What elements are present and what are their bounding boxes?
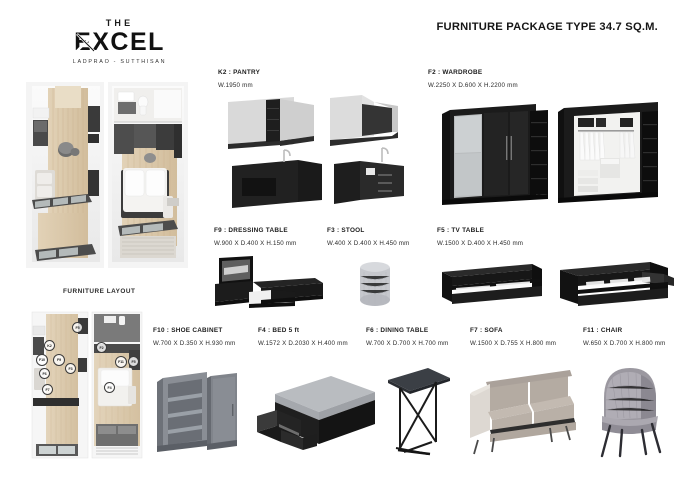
item-label-dressing-table: F9 : DRESSING TABLE W.900 X D.400 X H.15… — [214, 226, 297, 249]
item-code: F7 : SOFA — [470, 326, 556, 336]
item-label-dining-table: F6 : DINING TABLE W.700 X D.700 X H.700 … — [366, 326, 449, 349]
item-label-shoe-cabinet: F10 : SHOE CABINET W.700 X D.350 X H.930… — [153, 326, 236, 349]
plan-marker[interactable]: F2 — [96, 342, 107, 353]
product-image-stool — [352, 256, 398, 314]
product-image-dining-table — [384, 364, 454, 456]
item-code: F9 : DRESSING TABLE — [214, 226, 297, 236]
plan-marker[interactable]: F4 — [104, 382, 115, 393]
item-code: F6 : DINING TABLE — [366, 326, 449, 336]
furniture-layout-caption: FURNITURE LAYOUT — [63, 288, 135, 295]
item-label-stool: F3 : STOOL W.400 X D.400 X H.450 mm — [327, 226, 410, 249]
product-image-chair — [592, 364, 670, 460]
item-dimensions: W.700 X D.350 X H.930 mm — [153, 339, 236, 349]
product-image-bed — [253, 372, 381, 454]
item-dimensions: W.1500 X D.755 X H.800 mm — [470, 339, 556, 349]
plan-marker[interactable]: F9 — [53, 354, 65, 366]
product-image-pantry — [222, 92, 412, 210]
product-image-tv-table — [436, 252, 676, 314]
product-image-sofa — [462, 368, 590, 458]
isometric-floor-plan — [22, 78, 194, 274]
plan-marker[interactable]: F6 — [39, 368, 50, 379]
item-code: K2 : PANTRY — [218, 68, 260, 78]
product-image-shoe-cabinet — [155, 360, 245, 460]
item-dimensions: W.1500 X D.400 X H.450 mm — [437, 239, 523, 249]
item-dimensions: W.400 X D.400 X H.450 mm — [327, 239, 410, 249]
product-image-wardrobe — [432, 92, 670, 210]
plan-marker[interactable]: F11 — [115, 356, 127, 368]
item-label-chair: F11 : CHAIR W.650 X D.700 X H.800 mm — [583, 326, 666, 349]
item-label-sofa: F7 : SOFA W.1500 X D.755 X H.800 mm — [470, 326, 556, 349]
plan-marker[interactable]: K2 — [44, 340, 55, 351]
plan-marker[interactable]: F5 — [128, 356, 139, 367]
item-code: F10 : SHOE CABINET — [153, 326, 236, 336]
brand-excel-text: EXCEL — [74, 28, 165, 56]
item-label-tv-table: F5 : TV TABLE W.1500 X D.400 X H.450 mm — [437, 226, 523, 249]
plan-marker[interactable]: F5 — [72, 322, 83, 333]
plan-marker[interactable]: F10 — [36, 354, 48, 366]
item-code: F4 : BED 5 ft — [258, 326, 348, 336]
brand-line-excel: EXCEL — [74, 29, 165, 56]
item-code: F2 : WARDROBE — [428, 68, 518, 78]
item-dimensions: W.650 X D.700 X H.800 mm — [583, 339, 666, 349]
item-label-pantry: K2 : PANTRY W.1950 mm — [218, 68, 260, 91]
item-label-bed: F4 : BED 5 ft W.1572 X D.2030 X H.400 mm — [258, 326, 348, 349]
item-code: F5 : TV TABLE — [437, 226, 523, 236]
furniture-layout-plan: F5 K2 F10 F9 F3 F7 F6 F2 F5 F11 F4 — [24, 306, 150, 464]
item-dimensions: W.1572 X D.2030 X H.400 mm — [258, 339, 348, 349]
item-code: F3 : STOOL — [327, 226, 410, 236]
furniture-package-sheet: THE EXCEL LADPRAO - SUTTHISAN FURNITURE … — [0, 0, 680, 481]
item-dimensions: W.900 X D.400 X H.150 mm — [214, 239, 297, 249]
page-title: FURNITURE PACKAGE TYPE 34.7 SQ.M. — [437, 21, 658, 33]
brand-line-location: LADPRAO - SUTTHISAN — [62, 58, 177, 67]
product-image-dressing-table — [205, 252, 340, 314]
plan-marker[interactable]: F3 — [65, 363, 76, 374]
item-dimensions: W.2250 X D.600 X H.2200 mm — [428, 81, 518, 91]
brand-logo: THE EXCEL LADPRAO - SUTTHISAN — [62, 18, 177, 67]
plan-marker[interactable]: F7 — [42, 384, 53, 395]
item-code: F11 : CHAIR — [583, 326, 666, 336]
item-dimensions: W.700 X D.700 X H.700 mm — [366, 339, 449, 349]
item-label-wardrobe: F2 : WARDROBE W.2250 X D.600 X H.2200 mm — [428, 68, 518, 91]
item-dimensions: W.1950 mm — [218, 81, 260, 91]
